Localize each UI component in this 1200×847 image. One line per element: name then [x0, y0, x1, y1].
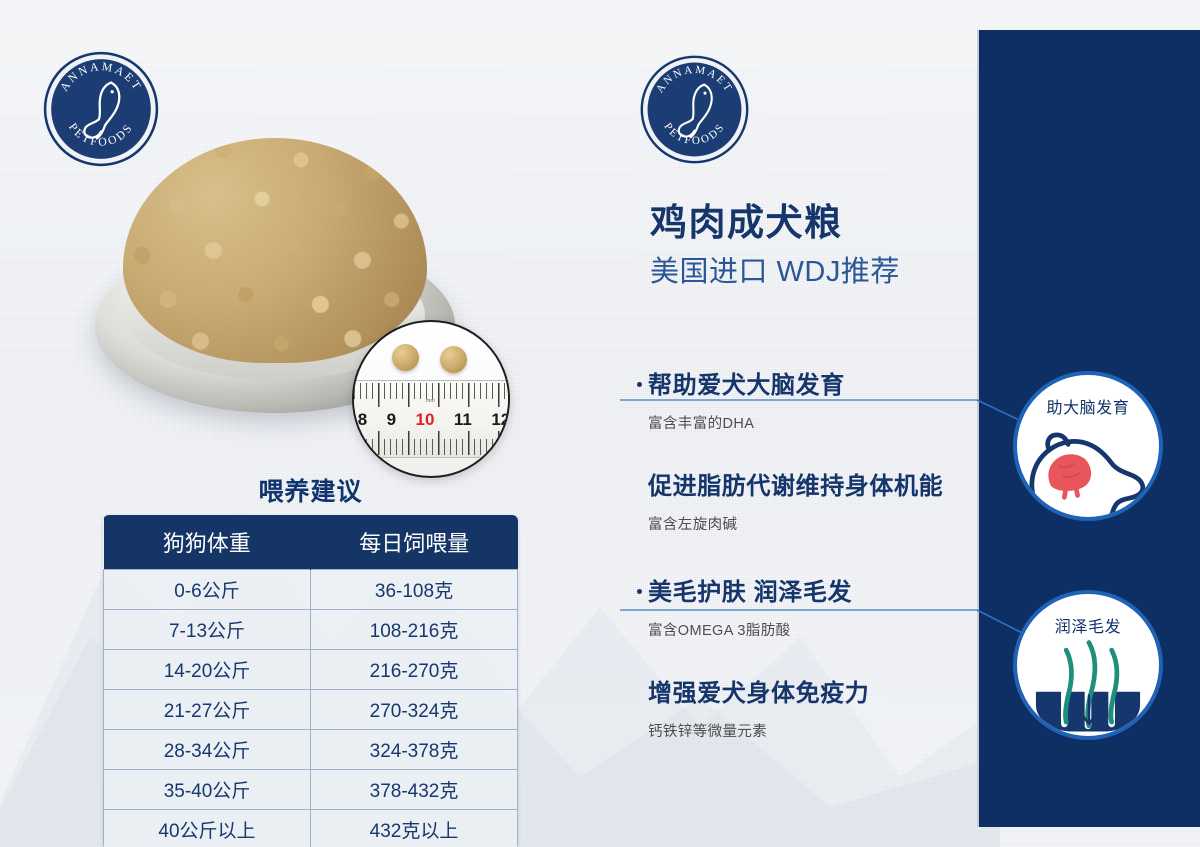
ruler-unit-label: mm — [426, 398, 435, 404]
table-row: 14-20公斤 216-270克 — [104, 650, 518, 690]
cell-weight: 0-6公斤 — [104, 570, 311, 610]
feature-heading: 增强爱犬身体免疫力 — [637, 673, 997, 708]
feature-subtext: 富含OMEGA 3脂肪酸 — [637, 619, 997, 640]
feature-subtext: 富含左旋肉碱 — [637, 513, 997, 534]
table-row: 40公斤以上 432克以上 — [104, 810, 518, 847]
feature-subtext: 钙铁锌等微量元素 — [637, 720, 997, 741]
product-detail-page: ANNAMAET PETFOODS mm 8 — [0, 0, 1200, 847]
kibble-mound — [123, 138, 427, 363]
ruler-tick-labels: 8 9 10 11 12 — [352, 407, 510, 433]
cell-amount: 108-216克 — [311, 610, 518, 650]
table-row: 0-6公斤 36-108克 — [104, 570, 518, 610]
bullet-dot-icon — [637, 382, 642, 387]
cell-weight: 28-34公斤 — [104, 730, 311, 770]
benefit-badge-coat: 润泽毛发 — [1013, 590, 1163, 740]
cell-weight: 35-40公斤 — [104, 770, 311, 810]
table-row: 7-13公斤 108-216克 — [104, 610, 518, 650]
cell-amount: 216-270克 — [311, 650, 518, 690]
cell-amount: 36-108克 — [311, 570, 518, 610]
feature-item-brain: 帮助爱犬大脑发育 富含丰富的DHA — [637, 365, 997, 433]
feature-item-metabolism: 促进脂肪代谢维持身体机能 富含左旋肉碱 — [637, 466, 997, 534]
ruler-tick-11: 11 — [454, 410, 472, 430]
cell-weight: 14-20公斤 — [104, 650, 311, 690]
feeding-guide-table: 狗狗体重 每日饲喂量 0-6公斤 36-108克 7-13公斤 108-216克… — [103, 515, 518, 847]
feature-subtext: 富含丰富的DHA — [637, 412, 997, 433]
hair-follicle-icon — [1017, 634, 1159, 740]
feature-heading: 帮助爱犬大脑发育 — [637, 365, 997, 400]
dog-head-brain-icon — [1017, 415, 1159, 521]
table-row: 21-27公斤 270-324克 — [104, 690, 518, 730]
ruler-tick-10: 10 — [416, 410, 435, 430]
cell-weight: 21-27公斤 — [104, 690, 311, 730]
bullet-dot-icon — [637, 589, 642, 594]
feature-item-immunity: 增强爱犬身体免疫力 钙铁锌等微量元素 — [637, 673, 997, 741]
table-row: 28-34公斤 324-378克 — [104, 730, 518, 770]
product-subtitle: 美国进口 WDJ推荐 — [650, 248, 900, 290]
cell-amount: 270-324克 — [311, 690, 518, 730]
ruler-ticks-bottom-major — [352, 431, 510, 455]
ruler-tick-9: 9 — [387, 410, 396, 430]
cell-weight: 7-13公斤 — [104, 610, 311, 650]
product-title: 鸡肉成犬粮 — [650, 192, 843, 246]
feeding-table-title: 喂养建议 — [103, 472, 518, 508]
kibble-sample-1 — [392, 344, 419, 371]
cell-amount: 432克以上 — [311, 810, 518, 847]
feature-heading: 美毛护肤 润泽毛发 — [637, 572, 997, 607]
feature-item-coat: 美毛护肤 润泽毛发 富含OMEGA 3脂肪酸 — [637, 572, 997, 640]
kibble-sample-2 — [440, 346, 467, 373]
cell-amount: 324-378克 — [311, 730, 518, 770]
column-header-amount: 每日饲喂量 — [311, 515, 518, 570]
column-header-weight: 狗狗体重 — [104, 515, 311, 570]
ruler-tick-8: 8 — [358, 410, 367, 430]
ruler: mm 8 9 10 11 12 — [352, 380, 510, 458]
table-header-row: 狗狗体重 每日饲喂量 — [104, 515, 518, 570]
brand-logo-secondary: ANNAMAET PETFOODS — [637, 52, 752, 167]
table-row: 35-40公斤 378-432克 — [104, 770, 518, 810]
cell-weight: 40公斤以上 — [104, 810, 311, 847]
benefit-badge-brain: 助大脑发育 — [1013, 371, 1163, 521]
kibble-size-magnifier: mm 8 9 10 11 12 — [352, 320, 510, 478]
cell-amount: 378-432克 — [311, 770, 518, 810]
feature-heading: 促进脂肪代谢维持身体机能 — [637, 466, 997, 501]
ruler-tick-12: 12 — [491, 410, 510, 430]
